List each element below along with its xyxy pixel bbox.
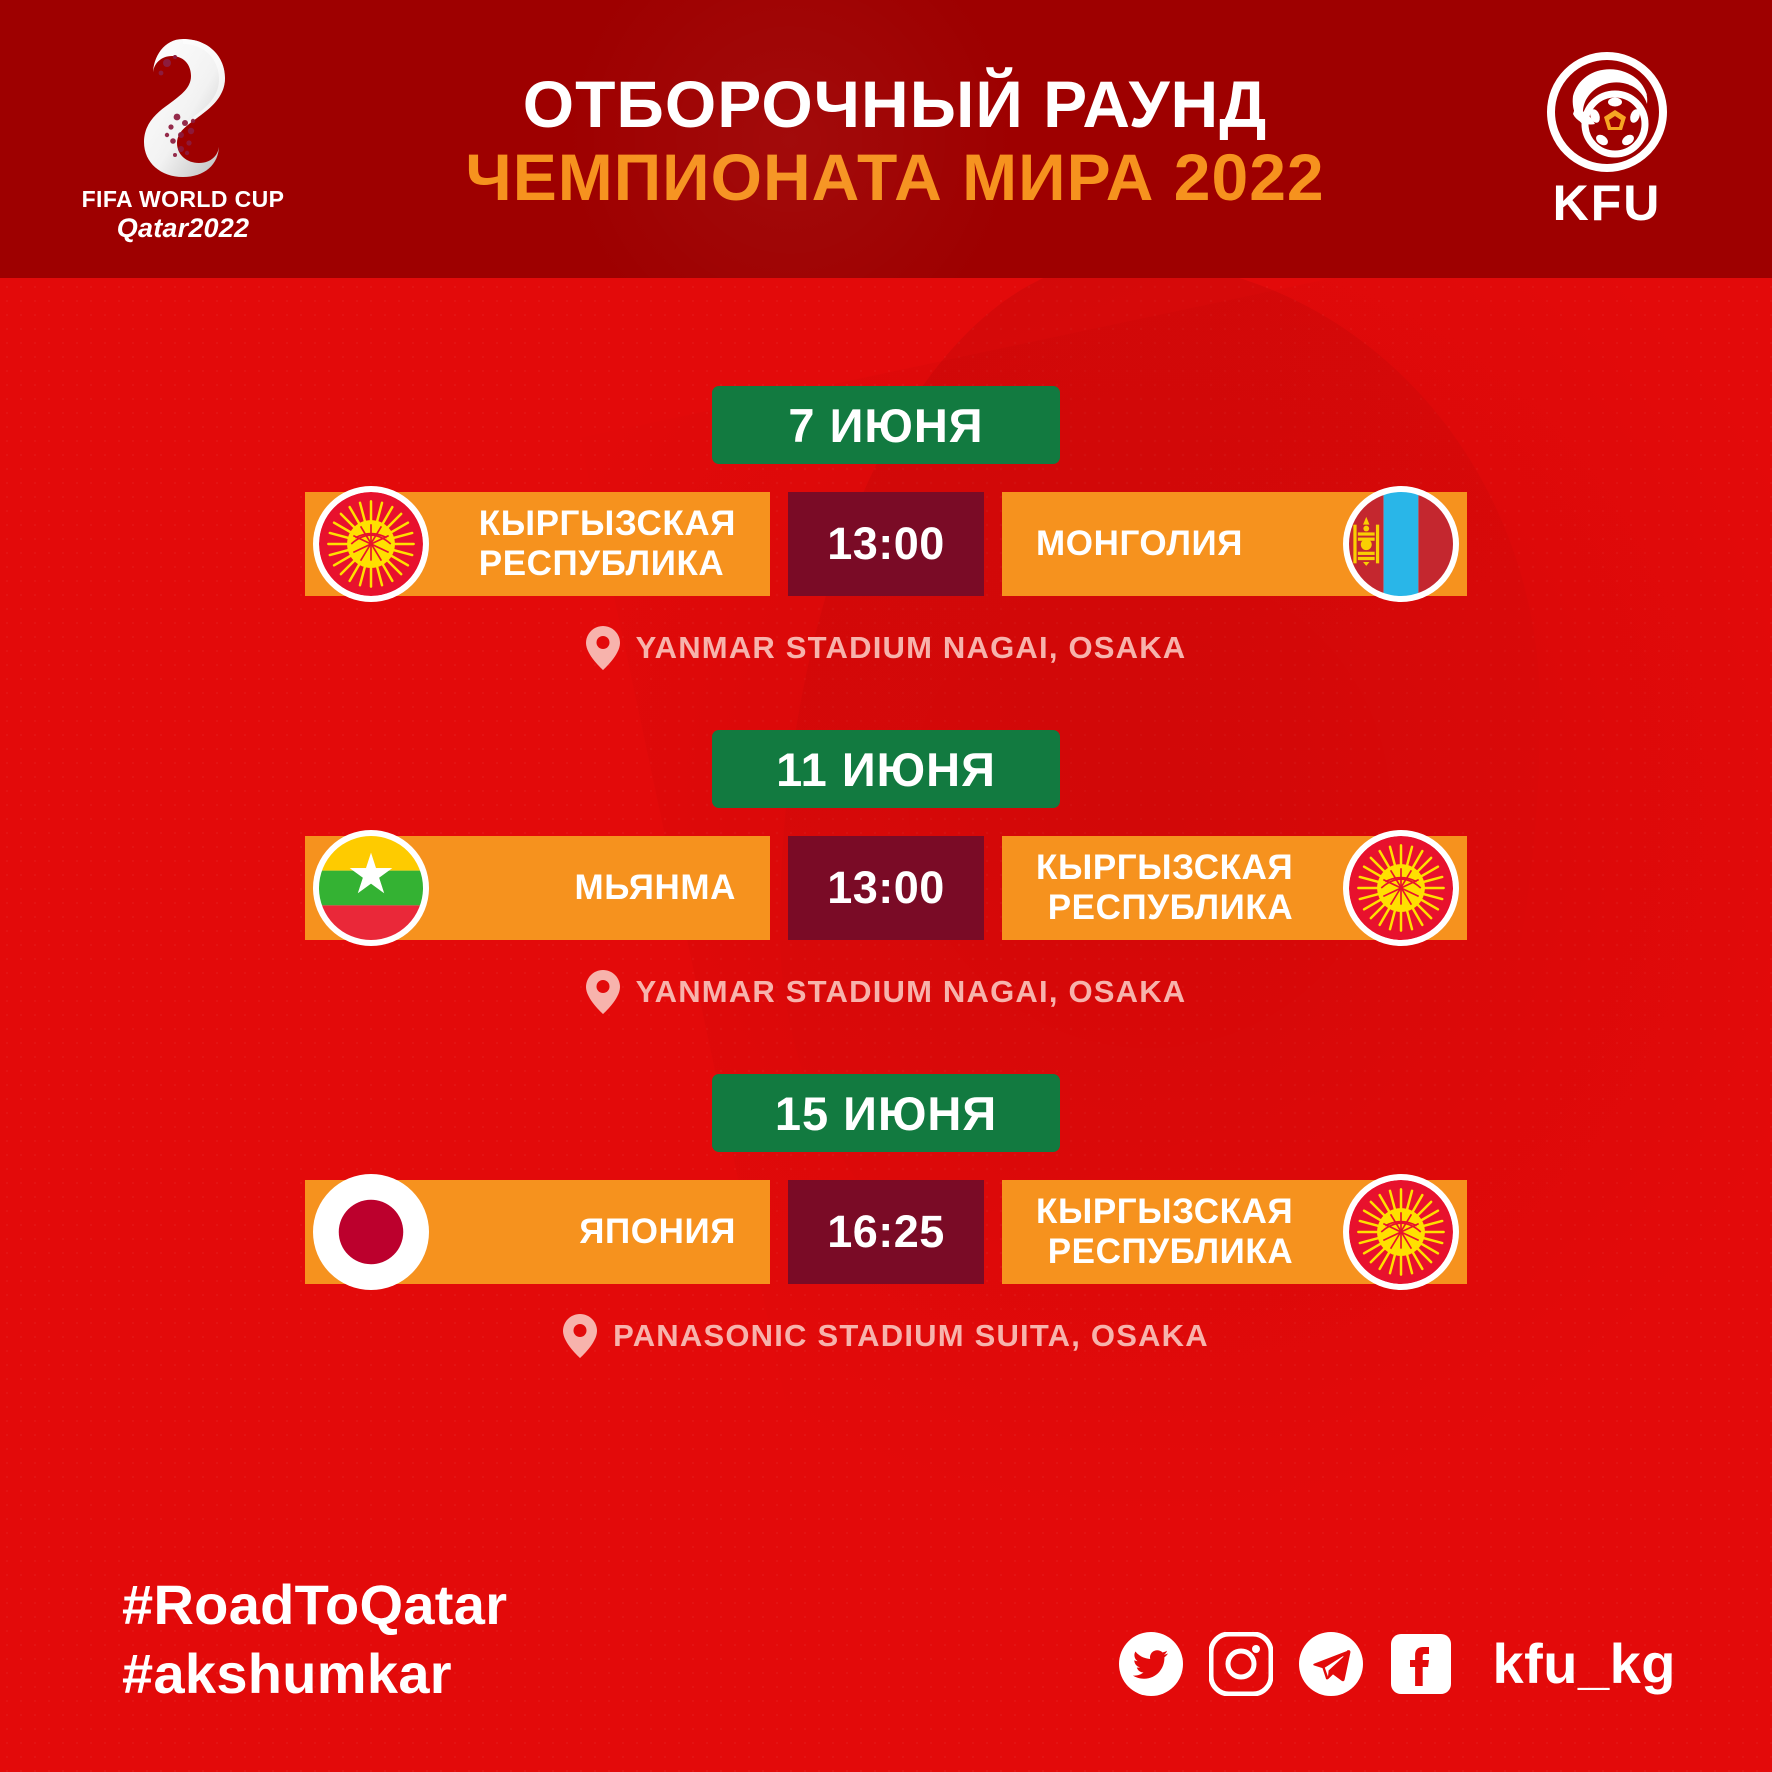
page-footer: #RoadToQatar #akshumkar	[0, 1472, 1772, 1772]
flag-kyrgyzstan-icon	[1343, 830, 1459, 946]
home-team-name: МЬЯНМА	[575, 868, 736, 908]
flag-myanmar-icon	[313, 830, 429, 946]
twitter-icon[interactable]	[1119, 1632, 1183, 1696]
telegram-icon[interactable]	[1299, 1632, 1363, 1696]
away-team: КЫРГЫЗСКАЯ РЕСПУБЛИКА	[1002, 1180, 1467, 1284]
away-team-name: МОНГОЛИЯ	[1036, 524, 1243, 564]
away-team: МОНГОЛИЯ	[1002, 492, 1467, 596]
away-team: КЫРГЫЗСКАЯ РЕСПУБЛИКА	[1002, 836, 1467, 940]
flag-mongolia-icon	[1343, 486, 1459, 602]
hashtag-road-to-qatar: #RoadToQatar	[122, 1571, 507, 1639]
venue-name: YANMAR STADIUM NAGAI, OSAKA	[636, 630, 1187, 666]
match-time: 13:00	[788, 836, 984, 940]
venue: YANMAR STADIUM NAGAI, OSAKA	[0, 626, 1772, 670]
fixture: КЫРГЫЗСКАЯ РЕСПУБЛИКА 13:00 МОНГОЛИЯ	[0, 486, 1772, 602]
venue-name: PANASONIC STADIUM SUITA, OSAKA	[613, 1318, 1209, 1354]
fixture: МЬЯНМА 13:00 КЫРГЫЗСКАЯ РЕСПУБЛИКА	[0, 830, 1772, 946]
location-pin-icon	[586, 626, 620, 670]
match-date-badge: 7 ИЮНЯ	[712, 386, 1060, 464]
instagram-icon[interactable]	[1209, 1632, 1273, 1696]
match-time: 16:25	[788, 1180, 984, 1284]
flag-kyrgyzstan-icon	[313, 486, 429, 602]
home-team: КЫРГЫЗСКАЯ РЕСПУБЛИКА	[305, 492, 770, 596]
home-team: ЯПОНИЯ	[305, 1180, 770, 1284]
page-title: ОТБОРОЧНЫЙ РАУНД	[278, 69, 1512, 140]
location-pin-icon	[586, 970, 620, 1014]
hashtag-akshumkar: #akshumkar	[122, 1640, 507, 1708]
location-pin-icon	[563, 1314, 597, 1358]
fifa-world-cup-trophy-icon	[131, 35, 235, 181]
kfu-wordmark: KFU	[1553, 178, 1662, 228]
home-team-name: ЯПОНИЯ	[579, 1212, 736, 1252]
social-links: kfu_kg	[1119, 1631, 1677, 1708]
fifa-wordmark-line1: FIFA WORLD CUP	[82, 187, 285, 211]
match-date-badge: 15 ИЮНЯ	[712, 1074, 1060, 1152]
match-list: 7 ИЮНЯ	[0, 278, 1772, 1358]
page-subtitle: ЧЕМПИОНАТА МИРА 2022	[278, 142, 1512, 213]
match-row: 15 ИЮНЯ ЯПОНИЯ 16:25 КЫРГЫЗСКАЯ РЕСПУБЛИ…	[0, 1074, 1772, 1358]
venue-name: YANMAR STADIUM NAGAI, OSAKA	[636, 974, 1187, 1010]
flag-kyrgyzstan-icon	[1343, 1174, 1459, 1290]
fixture: ЯПОНИЯ 16:25 КЫРГЫЗСКАЯ РЕСПУБЛИКА	[0, 1174, 1772, 1290]
away-team-name: КЫРГЫЗСКАЯ РЕСПУБЛИКА	[1036, 1192, 1293, 1273]
hashtag-group: #RoadToQatar #akshumkar	[122, 1571, 507, 1708]
venue: YANMAR STADIUM NAGAI, OSAKA	[0, 970, 1772, 1014]
match-row: 11 ИЮНЯ МЬЯНМА 13:00 КЫРГЫЗСКАЯ РЕСПУБЛИ…	[0, 730, 1772, 1014]
facebook-icon[interactable]	[1389, 1632, 1453, 1696]
venue: PANASONIC STADIUM SUITA, OSAKA	[0, 1314, 1772, 1358]
match-time: 13:00	[788, 492, 984, 596]
fifa-wordmark-line2: Qatar2022	[82, 214, 285, 242]
fifa-world-cup-logo: FIFA WORLD CUP Qatar2022	[78, 35, 288, 242]
kfu-logo: KFU	[1512, 50, 1702, 228]
match-row: 7 ИЮНЯ	[0, 386, 1772, 670]
home-team-name: КЫРГЫЗСКАЯ РЕСПУБЛИКА	[479, 504, 736, 585]
flag-japan-icon	[313, 1174, 429, 1290]
header-title-group: ОТБОРОЧНЫЙ РАУНД ЧЕМПИОНАТА МИРА 2022	[278, 69, 1512, 214]
page-header: FIFA WORLD CUP Qatar2022 ОТБОРОЧНЫЙ РАУН…	[0, 0, 1772, 278]
match-date-badge: 11 ИЮНЯ	[712, 730, 1060, 808]
social-handle: kfu_kg	[1493, 1631, 1677, 1696]
home-team: МЬЯНМА	[305, 836, 770, 940]
away-team-name: КЫРГЫЗСКАЯ РЕСПУБЛИКА	[1036, 848, 1293, 929]
kfu-falcon-crest-icon	[1545, 50, 1669, 174]
